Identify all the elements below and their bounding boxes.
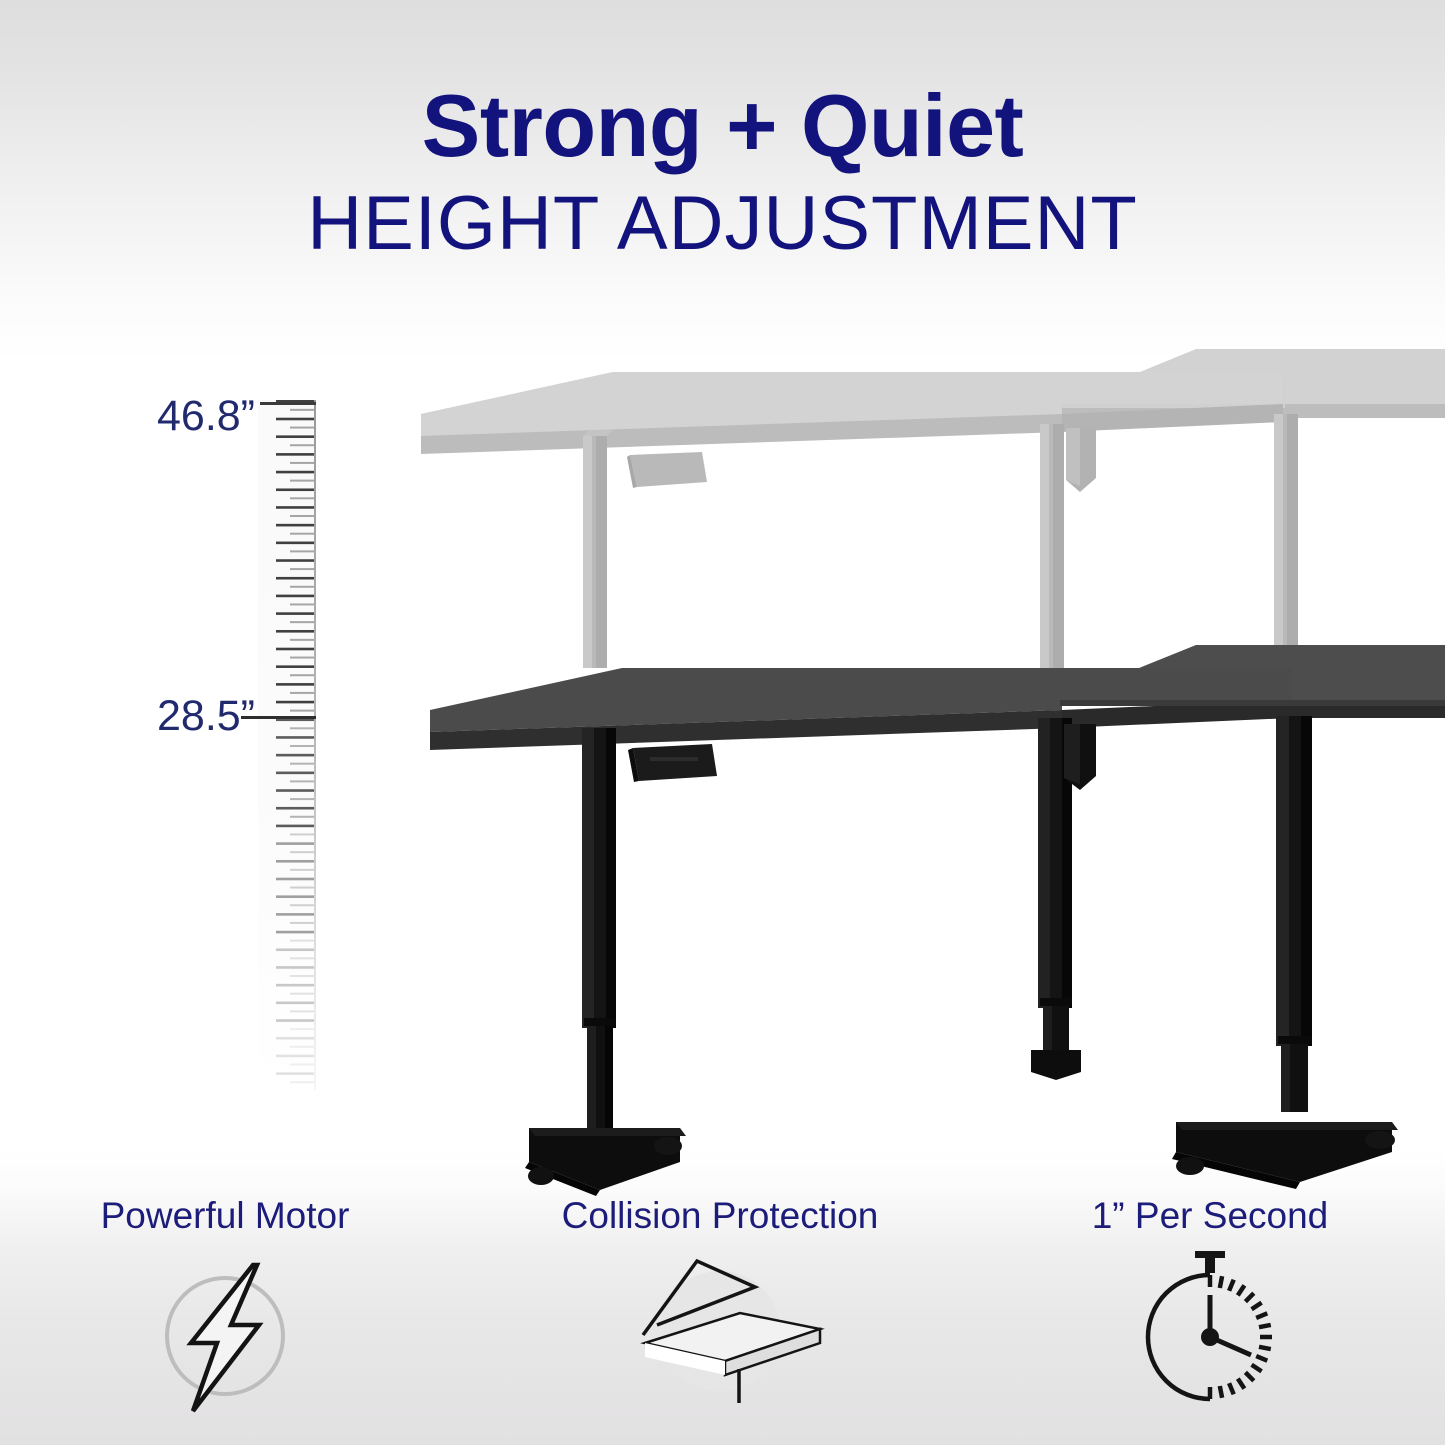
lightning-bolt-icon xyxy=(0,1251,460,1421)
lowered-leg-left xyxy=(525,728,686,1196)
raised-leg-corner xyxy=(1040,424,1064,668)
feature-row: Powerful Motor Collision Protection xyxy=(0,1196,1445,1445)
feature-label-collision-protection: Collision Protection xyxy=(485,1196,955,1237)
desk-raised-ghost xyxy=(421,349,1445,668)
feature-collision-protection: Collision Protection xyxy=(485,1196,955,1421)
raised-corner-bracket xyxy=(1066,428,1096,492)
feature-speed: 1” Per Second xyxy=(975,1196,1445,1421)
feature-label-powerful-motor: Powerful Motor xyxy=(0,1196,460,1237)
desktop-collision-icon xyxy=(485,1251,955,1421)
feature-powerful-motor: Powerful Motor xyxy=(0,1196,460,1421)
lowered-leg-return xyxy=(1172,716,1398,1189)
feature-label-speed: 1” Per Second xyxy=(975,1196,1445,1237)
lowered-corner-bracket xyxy=(1064,724,1096,790)
raised-control-panel xyxy=(627,452,707,488)
stopwatch-icon xyxy=(975,1251,1445,1421)
control-panel xyxy=(628,744,717,782)
raised-leg-return xyxy=(1274,414,1298,664)
raised-leg-left xyxy=(583,430,613,668)
desk-lowered xyxy=(430,645,1445,1196)
infographic-canvas: Strong + Quiet HEIGHT ADJUSTMENT 46.8” 2… xyxy=(0,0,1445,1445)
